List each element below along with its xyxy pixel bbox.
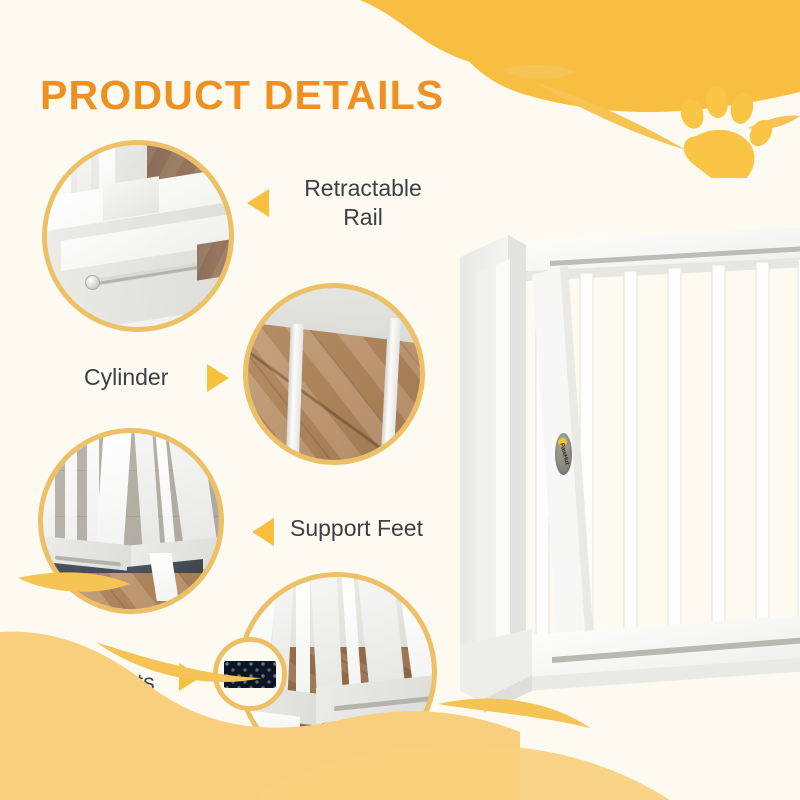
label-cylinder: Cylinder <box>84 363 168 392</box>
detail-circle-support-feet <box>38 428 224 614</box>
support-feet-photo <box>43 433 219 609</box>
detail-circle-cylinder <box>243 283 425 465</box>
paw-swoosh-decoration <box>480 48 800 178</box>
label-retractable-rail: Retractable Rail <box>283 174 443 233</box>
arrow-non-slip-mats <box>179 663 201 691</box>
non-slip-mat-swatch <box>224 661 276 688</box>
cylinder-photo <box>248 288 420 460</box>
detail-circle-mat-swatch <box>213 637 287 711</box>
arrow-support-feet <box>252 518 274 546</box>
arrow-cylinder <box>207 364 229 392</box>
label-non-slip-mats: Non-slip Mats <box>14 668 155 697</box>
badge-text: PawHut <box>557 439 571 470</box>
brand-badge: PawHut <box>555 433 572 475</box>
screw-head-icon <box>85 275 100 290</box>
arrow-retractable-rail <box>247 189 269 217</box>
product-image-pet-gate: PawHut <box>440 205 800 715</box>
cylinder-slat <box>380 318 401 465</box>
label-support-feet: Support Feet <box>290 514 423 543</box>
product-details-infographic: PRODUCT DETAILS <box>0 0 800 800</box>
page-title: PRODUCT DETAILS <box>40 72 444 119</box>
retractable-rail-photo <box>47 145 229 327</box>
cylinder-slat <box>285 324 303 465</box>
detail-circle-retractable-rail <box>42 140 234 332</box>
